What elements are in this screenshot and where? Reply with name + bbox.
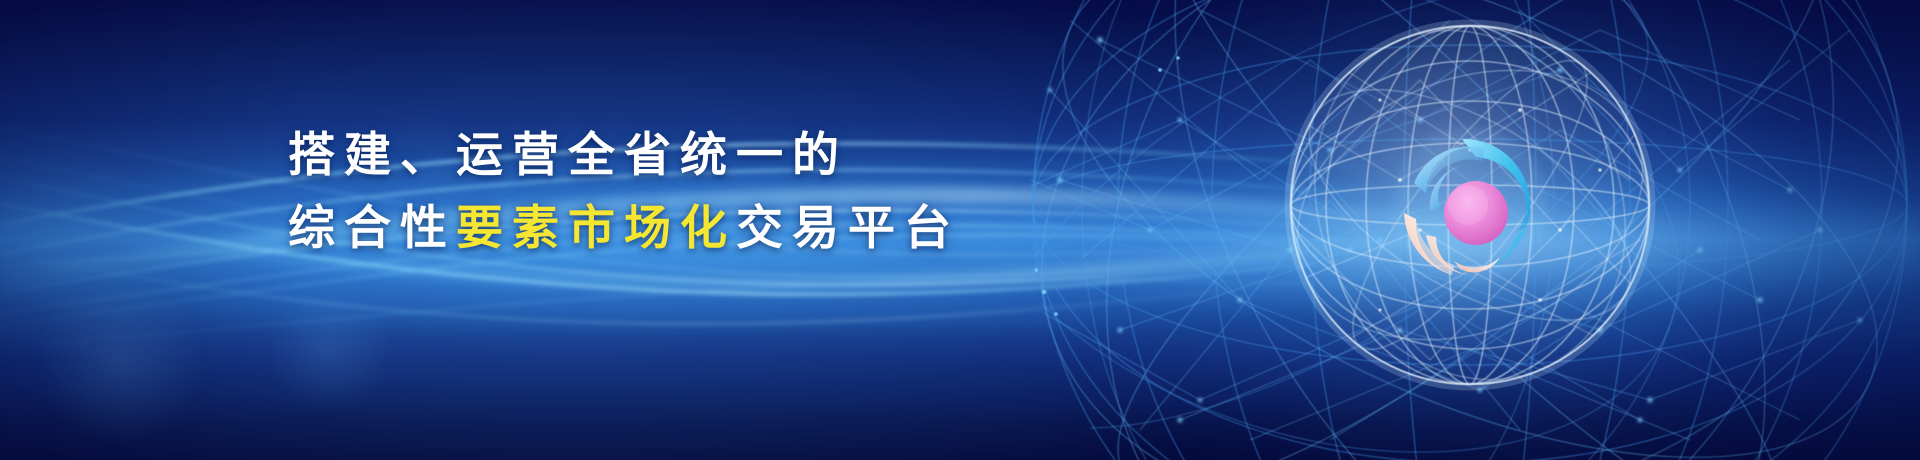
- headline-line-1: 搭建、运营全省统一的: [288, 118, 988, 191]
- headline-block: 搭建、运营全省统一的 综合性要素市场化交易平台: [288, 118, 988, 264]
- headline-accent-text: 要素市场化: [456, 201, 736, 254]
- headline-line-2-prefix: 综合性: [288, 201, 456, 254]
- hero-banner: 搭建、运营全省统一的 综合性要素市场化交易平台: [0, 0, 1920, 460]
- headline-line-2: 综合性要素市场化交易平台: [288, 191, 988, 264]
- headline-line-2-suffix: 交易平台: [736, 201, 960, 254]
